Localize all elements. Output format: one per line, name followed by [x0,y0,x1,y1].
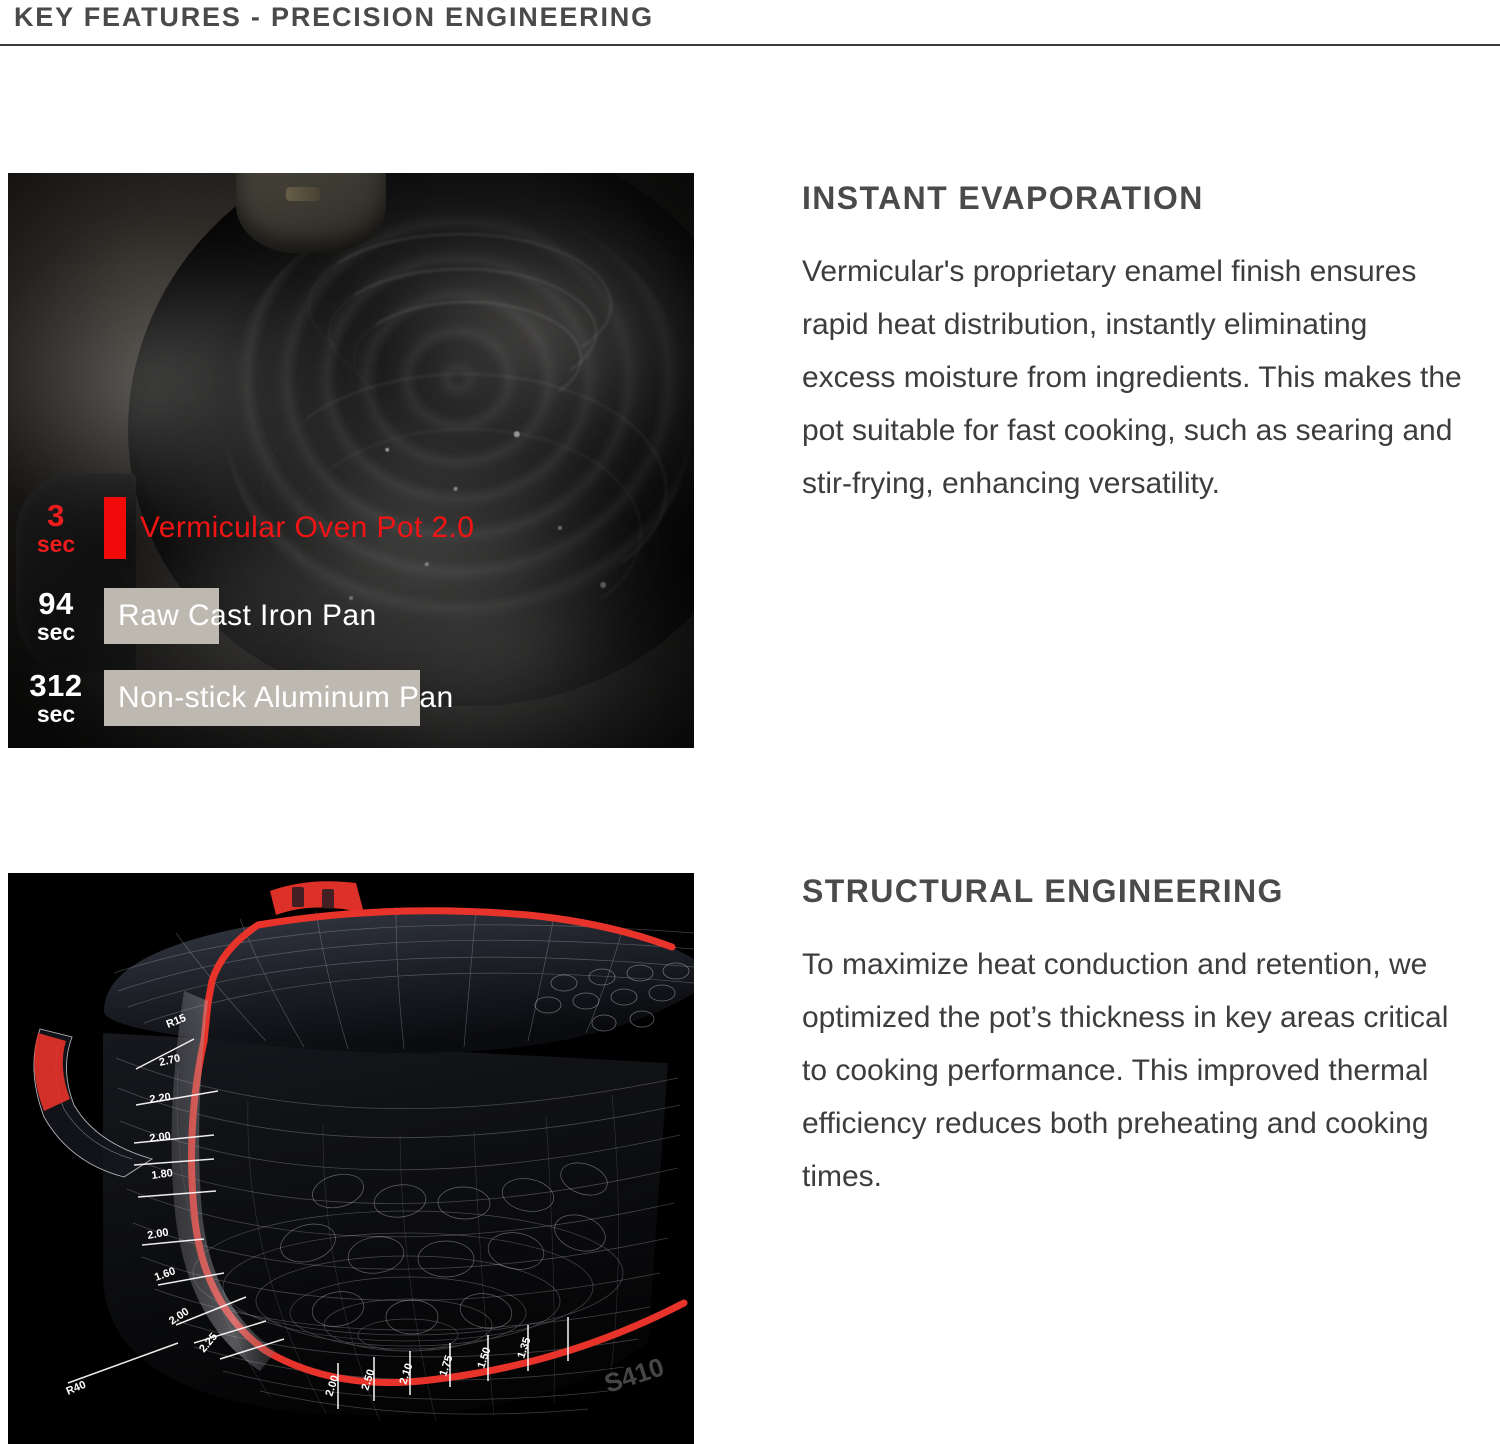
chart-value-unit: sec [8,703,104,726]
page-title: KEY FEATURES - PRECISION ENGINEERING [14,2,654,33]
chart-label-cast-iron: Raw Cast Iron Pan [118,599,377,633]
chart-bar-track: Raw Cast Iron Pan [104,583,694,649]
chart-value-aluminum: 312 sec [8,670,104,726]
evaporation-body-text: Vermicular's proprietary enamel finish e… [802,217,1462,510]
chart-value-vermicular: 3 sec [8,500,104,556]
chart-row: 94 sec Raw Cast Iron Pan [8,583,694,649]
pot-lid-knob [236,173,386,253]
structural-body-text: To maximize heat conduction and retentio… [802,910,1462,1203]
evaporation-media-panel: 3 sec Vermicular Oven Pot 2.0 94 sec Raw… [8,173,694,748]
chart-value-cast-iron: 94 sec [8,588,104,644]
structural-heading: STRUCTURAL ENGINEERING [802,873,1472,910]
feature-section-structural-engineering: R15 2.70 2.20 2.00 1.80 2.00 1.60 2.00 2… [0,873,1500,1444]
chart-bar-vermicular [104,497,126,559]
chart-label-vermicular: Vermicular Oven Pot 2.0 [140,511,474,545]
chart-value-number: 312 [8,670,104,701]
chart-value-unit: sec [8,621,104,644]
cad-wireframe-stage: R15 2.70 2.20 2.00 1.80 2.00 1.60 2.00 2… [8,873,694,1444]
page-header: KEY FEATURES - PRECISION ENGINEERING [0,0,1500,48]
chart-row: 312 sec Non-stick Aluminum Pan [8,665,694,731]
chart-bar-track: Non-stick Aluminum Pan [104,665,694,731]
structural-text-column: STRUCTURAL ENGINEERING To maximize heat … [802,873,1472,1203]
chart-value-number: 94 [8,588,104,619]
cad-wireframe-svg: R15 2.70 2.20 2.00 1.80 2.00 1.60 2.00 2… [8,873,694,1444]
evaporation-time-chart: 3 sec Vermicular Oven Pot 2.0 94 sec Raw… [8,495,694,735]
chart-value-unit: sec [8,533,104,556]
chart-row: 3 sec Vermicular Oven Pot 2.0 [8,495,694,561]
feature-section-instant-evaporation: 3 sec Vermicular Oven Pot 2.0 94 sec Raw… [0,173,1500,749]
chart-bar-track: Vermicular Oven Pot 2.0 [104,495,694,561]
pot-knob-screw [286,187,320,201]
chart-value-number: 3 [8,500,104,531]
chart-label-aluminum: Non-stick Aluminum Pan [118,681,454,715]
evaporation-heading: INSTANT EVAPORATION [802,173,1472,217]
structural-media-panel: R15 2.70 2.20 2.00 1.80 2.00 1.60 2.00 2… [8,873,694,1444]
evaporation-text-column: INSTANT EVAPORATION Vermicular's proprie… [802,173,1472,510]
header-divider [0,44,1500,46]
